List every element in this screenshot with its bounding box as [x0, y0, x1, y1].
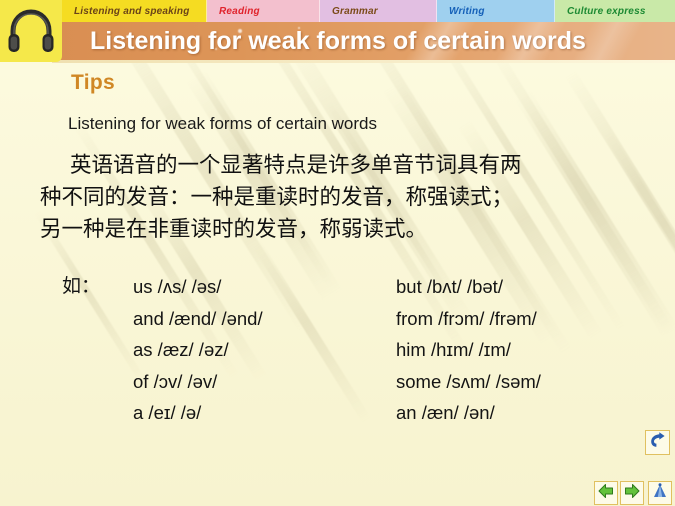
tab-label: Grammar — [332, 6, 378, 17]
title-banner: Listening for weak forms of certain word… — [52, 22, 675, 60]
arrow-right-icon — [623, 482, 641, 505]
tab-culture-express[interactable]: Culture express — [555, 0, 675, 22]
chinese-paragraph: 英语语音的一个显著特点是许多单音节词具有两 种不同的发音：一种是重读时的发音，称… — [40, 150, 640, 246]
example-item: a /eɪ/ /ə/ — [133, 397, 263, 429]
exit-button[interactable] — [648, 481, 672, 505]
example-item: some /sʌm/ /səm/ — [396, 366, 541, 398]
page-title: Listening for weak forms of certain word… — [90, 22, 586, 60]
return-button[interactable] — [645, 430, 670, 455]
tab-label: Listening and speaking — [74, 6, 190, 17]
example-item: him /hɪm/ /ɪm/ — [396, 334, 541, 366]
chinese-line: 另一种是在非重读时的发音，称弱读式。 — [40, 214, 640, 246]
tab-reading[interactable]: Reading — [207, 0, 320, 22]
chinese-line: 英语语音的一个显著特点是许多单音节词具有两 — [40, 150, 640, 182]
tab-writing[interactable]: Writing — [437, 0, 555, 22]
example-item: of /ɔv/ /əv/ — [133, 366, 263, 398]
tips-heading: Tips — [71, 71, 115, 95]
tab-listening-and-speaking[interactable]: Listening and speaking — [62, 0, 207, 22]
return-arrow-icon — [648, 431, 667, 455]
example-item: and /ænd/ /ənd/ — [133, 303, 263, 335]
chinese-line: 种不同的发音：一种是重读时的发音，称强读式； — [40, 182, 640, 214]
unit-section-tabs: Listening and speaking Reading Grammar W… — [0, 0, 675, 22]
example-item: from /frɔm/ /frəm/ — [396, 303, 541, 335]
tab-label: Writing — [449, 6, 485, 17]
headphones-badge — [0, 0, 62, 62]
examples-column-right: but /bʌt/ /bət/ from /frɔm/ /frəm/ him /… — [396, 271, 541, 429]
tab-grammar[interactable]: Grammar — [320, 0, 437, 22]
subtitle-text: Listening for weak forms of certain word… — [68, 114, 377, 134]
example-label: 如： — [62, 271, 100, 298]
example-item: as /æz/ /əz/ — [133, 334, 263, 366]
previous-page-button[interactable] — [594, 481, 618, 505]
example-item: an /æn/ /ən/ — [396, 397, 541, 429]
example-item: but /bʌt/ /bət/ — [396, 271, 541, 303]
tab-label: Culture express — [567, 6, 646, 17]
tab-label: Reading — [219, 6, 260, 17]
next-page-button[interactable] — [620, 481, 644, 505]
arrow-left-icon — [597, 482, 615, 505]
slide-canvas: Listening and speaking Reading Grammar W… — [0, 0, 675, 506]
example-item: us /ʌs/ /əs/ — [133, 271, 263, 303]
examples-column-left: us /ʌs/ /əs/ and /ænd/ /ənd/ as /æz/ /əz… — [133, 271, 263, 429]
exit-cone-icon — [651, 482, 669, 505]
banner-underline — [52, 60, 675, 63]
